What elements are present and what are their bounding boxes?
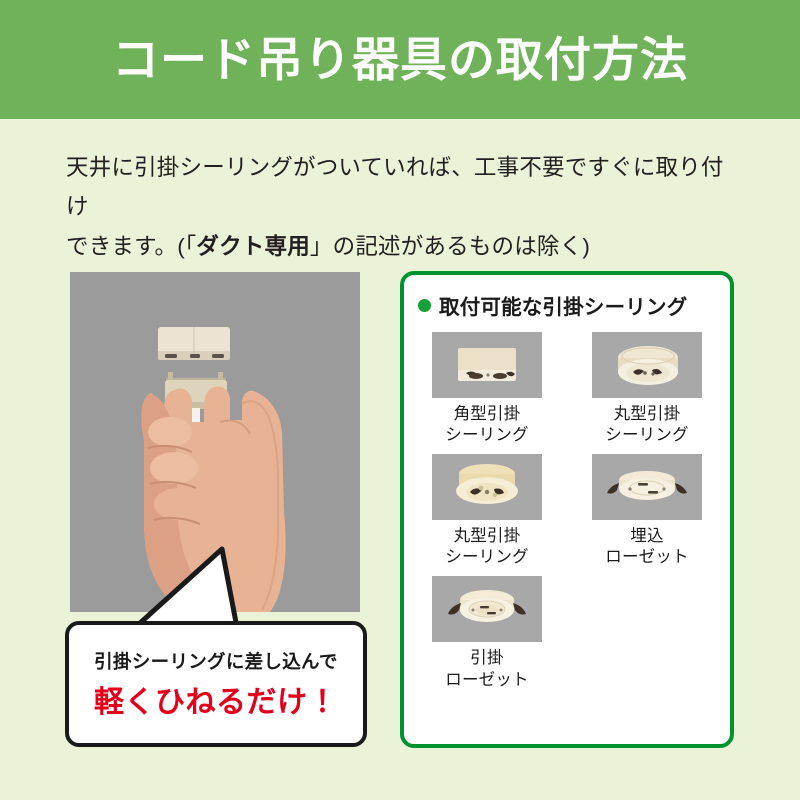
rosette-label: 丸型引掛 シーリング	[445, 526, 529, 568]
hand-shape	[141, 386, 285, 612]
page-title: コード吊り器具の取付方法	[112, 36, 688, 83]
intro-line-2-prefix: できます。(「	[66, 234, 196, 259]
rosette-label: 引掛 ローゼット	[445, 648, 529, 690]
ceiling-rosette-shape	[158, 327, 230, 360]
photo-illustration	[70, 272, 360, 612]
hook-rosette-icon	[432, 576, 542, 642]
rosette-label: 丸型引掛 シーリング	[605, 404, 689, 446]
rosette-label: 角型引掛 シーリング	[445, 404, 529, 446]
embedded-rosette-icon	[592, 454, 702, 520]
intro-paragraph: 天井に引掛シーリングがついていれば、工事不要ですぐに取り付け できます。(「ダク…	[66, 148, 746, 266]
callout-bubble: 引掛シーリングに差し込んで 軽くひねるだけ！	[65, 621, 367, 747]
intro-bold-term: ダクト専用	[196, 234, 310, 259]
square-ceiling-rosette-icon	[432, 332, 542, 398]
installation-photo	[70, 272, 360, 612]
intro-line-2-suffix: 」の記述があるものは除く)	[310, 234, 590, 259]
panel-title-text: 取付可能な引掛シーリング	[439, 290, 687, 320]
page-header: コード吊り器具の取付方法	[0, 0, 800, 119]
round-deep-ceiling-rosette-icon	[432, 454, 542, 520]
callout-line-2: 軽くひねるだけ！	[94, 677, 338, 721]
panel-title: 取付可能な引掛シーリング	[418, 290, 730, 320]
rosette-item: 角型引掛 シーリング	[411, 332, 563, 446]
rosette-item: 丸型引掛 シーリング	[411, 454, 563, 568]
bullet-icon	[418, 299, 431, 312]
rosette-label: 埋込 ローゼット	[605, 526, 689, 568]
intro-line-1: 天井に引掛シーリングがついていれば、工事不要ですぐに取り付け	[66, 155, 724, 219]
callout-line-1: 引掛シーリングに差し込んで	[94, 648, 337, 674]
rosette-grid: 角型引掛 シーリング 丸型引掛 シーリング	[404, 332, 730, 691]
rosette-item: 引掛 ローゼット	[411, 576, 563, 690]
rosette-item: 丸型引掛 シーリング	[571, 332, 723, 446]
round-ceiling-rosette-icon	[592, 332, 702, 398]
compatible-ceiling-rosettes-panel: 取付可能な引掛シーリング 角型引掛 シーリング	[400, 271, 734, 748]
rosette-item: 埋込 ローゼット	[571, 454, 723, 568]
